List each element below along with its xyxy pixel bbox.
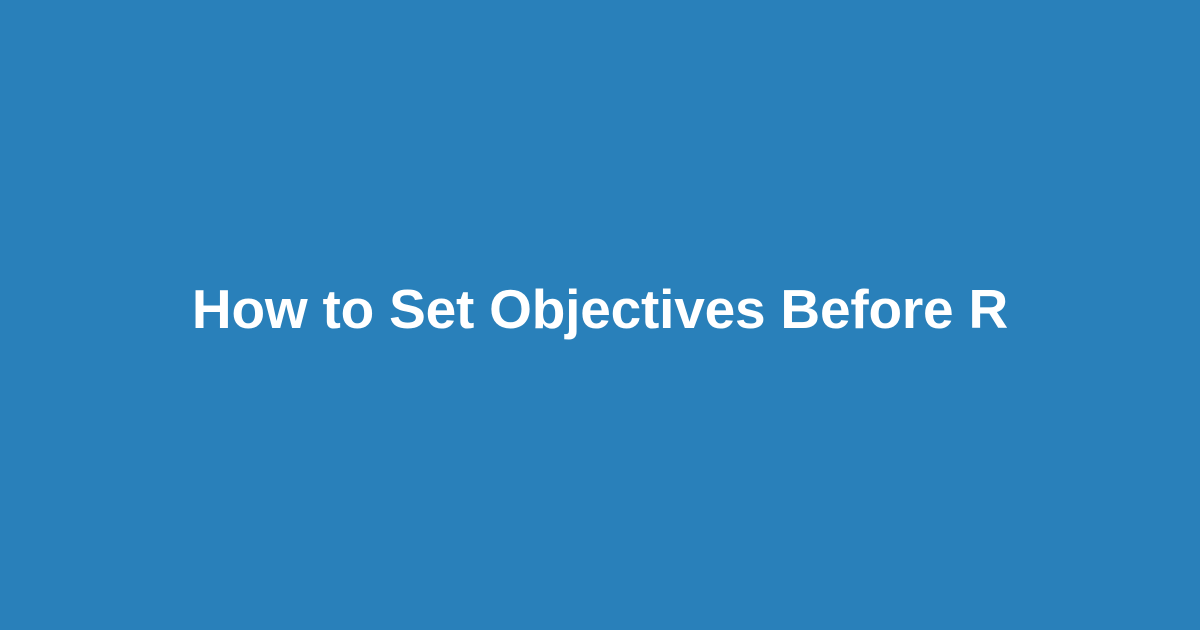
social-share-card: How to Set Objectives Before R xyxy=(0,0,1200,630)
page-title: How to Set Objectives Before R xyxy=(192,278,1008,341)
card-content-area: How to Set Objectives Before R xyxy=(0,283,1200,346)
